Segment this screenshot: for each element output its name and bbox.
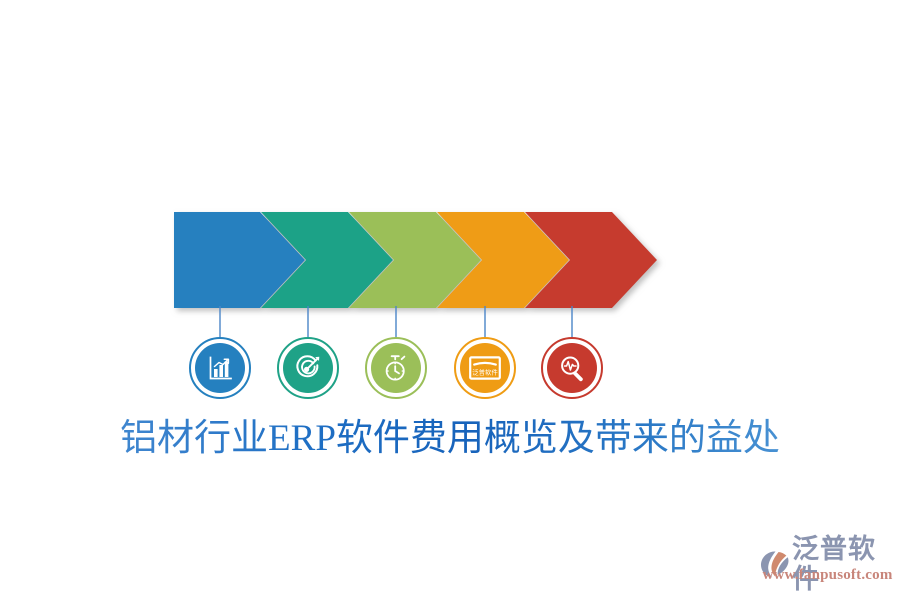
slide-canvas: 泛普软件 铝材行业ERP软件费用概览及带来的益处	[0, 0, 900, 600]
icon-disc-4: 泛普软件	[460, 343, 510, 393]
brand-logo-row: 泛普软件	[758, 534, 894, 594]
process-icon-node-4[interactable]: 泛普软件	[454, 337, 516, 399]
monitor-screen-label: 泛普软件	[472, 367, 498, 376]
page-title: 铝材行业ERP软件费用概览及带来的益处	[0, 416, 900, 462]
bar-chart-growth-icon	[206, 354, 234, 382]
process-icon-row: 泛普软件	[0, 337, 900, 401]
stopwatch-icon	[382, 353, 410, 383]
monitor-screen-icon: 泛普软件	[468, 354, 502, 382]
icon-disc-1	[195, 343, 245, 393]
icon-disc-5	[547, 343, 597, 393]
process-chevron-band	[170, 212, 662, 308]
process-icon-node-2[interactable]	[277, 337, 339, 399]
target-arrow-icon	[293, 353, 323, 383]
process-icon-node-5[interactable]	[541, 337, 603, 399]
process-icon-node-3[interactable]	[365, 337, 427, 399]
brand-url: www.fanpusoft.com	[761, 567, 894, 584]
brand-name: 泛普软件	[792, 534, 894, 594]
icon-disc-3	[371, 343, 421, 393]
icon-disc-2	[283, 343, 333, 393]
process-icon-node-1[interactable]	[189, 337, 251, 399]
brand-logo[interactable]: 泛普软件 www.fanpusoft.com	[758, 534, 894, 588]
magnifier-pulse-icon	[558, 354, 586, 382]
